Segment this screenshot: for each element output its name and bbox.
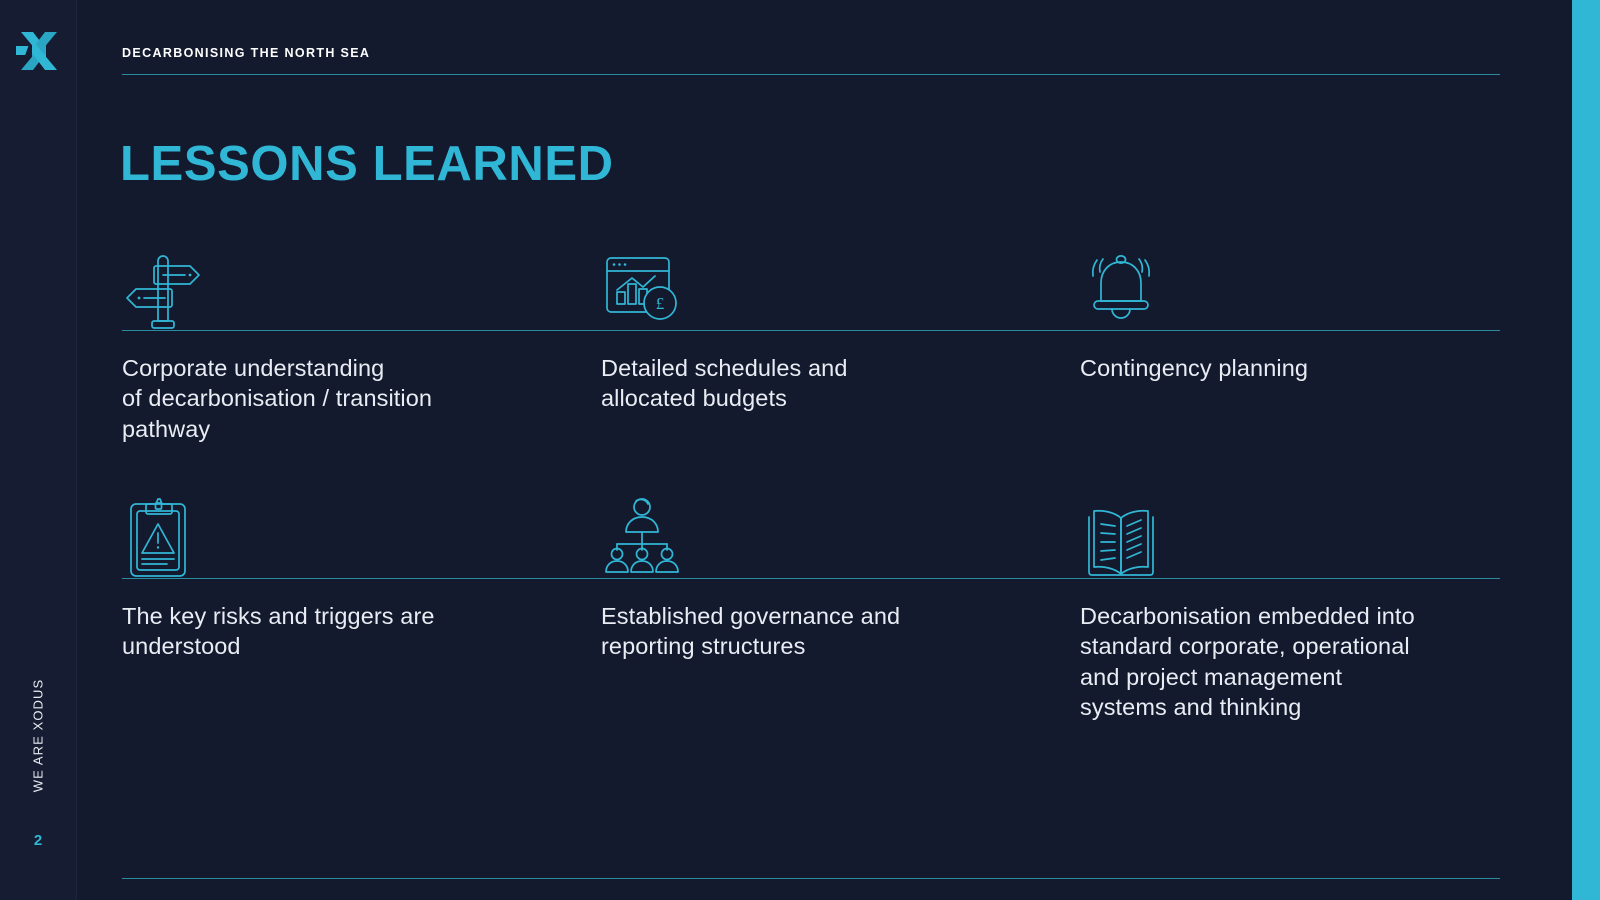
lesson-card-4-text: The key risks and triggers are understoo…	[122, 601, 601, 662]
lesson-card-6: Decarbonisation embedded into standard c…	[1080, 484, 1500, 722]
header-eyebrow: DECARBONISING THE NORTH SEA	[122, 46, 1500, 60]
page-number: 2	[0, 832, 76, 849]
card-divider	[122, 330, 601, 331]
lesson-card-5: Established governance and reporting str…	[601, 484, 1080, 722]
slide-canvas: WE ARE XODUS 2 DECARBONISING THE NORTH S…	[0, 0, 1600, 900]
header-divider	[122, 74, 1500, 75]
footer-divider	[122, 878, 1500, 879]
lesson-card-1-text: Corporate understanding of decarbonisati…	[122, 353, 601, 444]
lesson-card-2-text: Detailed schedules and allocated budgets	[601, 353, 1080, 414]
right-accent-bar	[1572, 0, 1600, 900]
lesson-card-5-text: Established governance and reporting str…	[601, 601, 1080, 662]
clipboard-warning-icon	[122, 484, 601, 578]
alarm-bell-icon	[1080, 236, 1500, 330]
card-divider	[1080, 578, 1500, 579]
lesson-card-4: The key risks and triggers are understoo…	[122, 484, 601, 722]
lesson-card-6-text: Decarbonisation embedded into standard c…	[1080, 601, 1500, 722]
card-divider	[1080, 330, 1500, 331]
left-rail: WE ARE XODUS 2	[0, 0, 77, 900]
signpost-icon	[122, 236, 601, 330]
slide-header: DECARBONISING THE NORTH SEA	[122, 46, 1500, 75]
page-title: LESSONS LEARNED	[120, 140, 614, 189]
open-book-icon	[1080, 484, 1500, 578]
card-divider	[601, 330, 1080, 331]
rail-brand-label: WE ARE XODUS	[31, 678, 46, 792]
lessons-grid: Corporate understanding of decarbonisati…	[122, 236, 1500, 722]
xodus-logo-icon	[16, 28, 62, 74]
lesson-card-1: Corporate understanding of decarbonisati…	[122, 236, 601, 444]
lesson-card-3: Contingency planning	[1080, 236, 1500, 444]
lesson-card-2: £ Detailed schedules and allocated budge…	[601, 236, 1080, 444]
lesson-card-3-text: Contingency planning	[1080, 353, 1500, 383]
budget-report-icon: £	[601, 236, 1080, 330]
svg-text:£: £	[656, 294, 665, 313]
card-divider	[122, 578, 601, 579]
org-chart-icon	[601, 484, 1080, 578]
rail-brand-text: WE ARE XODUS	[0, 640, 76, 830]
card-divider	[601, 578, 1080, 579]
